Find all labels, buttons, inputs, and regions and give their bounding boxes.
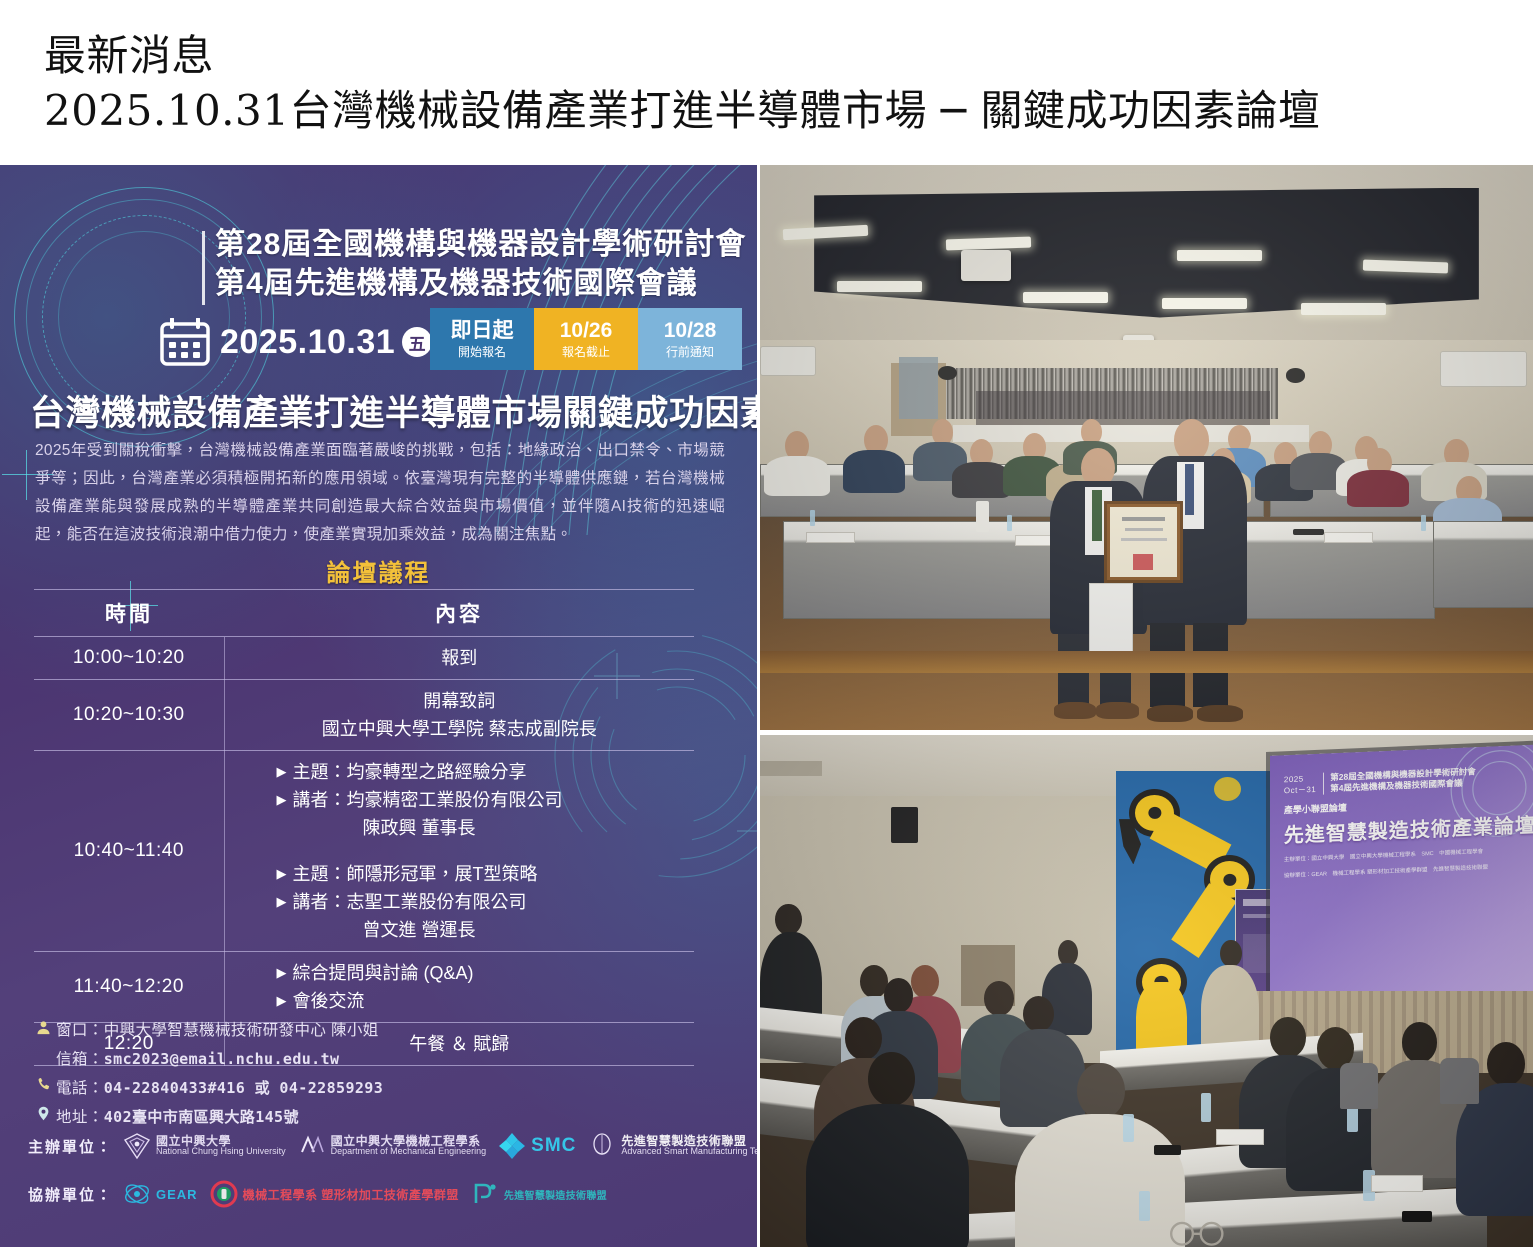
certificate-seal xyxy=(1133,554,1153,571)
cohost-row: 協辦單位： GEAR xyxy=(28,1178,748,1210)
person-icon xyxy=(30,1017,56,1045)
cohost-logos: GEAR 機械工程學系 塑形材加工技術產學群盟 xyxy=(123,1178,748,1210)
presenter-left-shoe xyxy=(1054,702,1097,719)
agenda-content: 報到 xyxy=(224,637,694,680)
ceiling-light xyxy=(837,281,922,292)
agenda-col-time: 時間 xyxy=(34,590,224,637)
smartphone xyxy=(1154,1145,1181,1155)
agenda-line-text: 講者：志聖工業股份有限公司 xyxy=(293,892,527,912)
agenda-time: 11:40~12:20 xyxy=(34,952,224,1023)
agenda-time: 10:00~10:20 xyxy=(34,637,224,680)
contact-person-row: 窗口：中興大學智慧機械技術研發中心 陳小姐 xyxy=(30,1017,670,1045)
table-row: 10:00~10:20 報到 xyxy=(34,637,694,680)
speaker xyxy=(938,366,957,380)
host-name-4: 先進智慧製造技術聯盟 xyxy=(621,1136,757,1146)
phone-value: 04-22840433#416 或 04-22859293 xyxy=(104,1079,383,1097)
agenda-speaker: 陳政興 董事長 xyxy=(277,814,691,842)
agenda-line: 開幕致詞 xyxy=(229,687,691,715)
front-desk-far-right xyxy=(1433,521,1533,608)
mural-logo xyxy=(1214,777,1241,801)
table-row: 11:40~12:20 ▶綜合提問與討論 (Q&A) ▶會後交流 xyxy=(34,952,694,1023)
agenda-line: ▶綜合提問與討論 (Q&A) xyxy=(277,959,691,987)
cohost-name-3: 先進智慧製造技術聯盟 xyxy=(504,1187,607,1202)
red-ring-icon: 機械工程學系 塑形材加工技術產學群盟 xyxy=(210,1178,459,1210)
foreground-attendee-head xyxy=(868,1052,914,1106)
host-logos: 國立中興大學National Chung Hsing University 國立… xyxy=(123,1130,757,1162)
certificate-line xyxy=(1125,528,1163,531)
event-poster: 第28屆全國機構與機器設計學術研討會 第4屆先進機構及機器技術國際會議 2025… xyxy=(0,165,757,1247)
asmt-mark-shape xyxy=(588,1132,616,1160)
projection-screen: 2025 Oct－31 第28屆全國機構與機器設計學術研討會 第4屆先進機構及機… xyxy=(1270,745,1533,1023)
agenda-time: 10:40~11:40 xyxy=(34,751,224,952)
screen-title: 先進智慧製造技術產業論壇 xyxy=(1284,809,1533,849)
poster-headline: 台灣機械設備產業打進半導體市場關鍵成功因素 xyxy=(30,385,730,436)
cohost-name-1: GEAR xyxy=(156,1187,198,1202)
agenda-line-text: 綜合提問與討論 (Q&A) xyxy=(293,963,474,983)
badge-registration-deadline: 10/26 報名截止 xyxy=(534,308,638,370)
wall-speaker xyxy=(891,807,918,843)
presenter-right-shoe xyxy=(1147,705,1193,722)
screen-content: 2025 Oct－31 第28屆全國機構與機器設計學術研討會 第4屆先進機構及機… xyxy=(1270,745,1533,1023)
bullet-triangle-icon: ▶ xyxy=(277,764,287,779)
door-glass xyxy=(899,357,938,419)
agenda-line-text: 講者：均豪精密工業股份有限公司 xyxy=(293,790,563,810)
sponsors-section: 主辦單位： 國立中興大學National Chung Hsing Univers… xyxy=(28,1130,748,1226)
table-row: 10:40~11:40 ▶主題：均豪轉型之路經驗分享 ▶講者：均豪精密工業股份有… xyxy=(34,751,694,952)
screen-date-block: 2025 Oct－31 xyxy=(1284,774,1316,797)
host-label: 主辦單位： xyxy=(28,1136,113,1157)
badge-subtitle: 開始報名 xyxy=(458,344,506,360)
classroom-scene xyxy=(760,165,1533,730)
host-en-1: National Chung Hsing University xyxy=(156,1146,286,1156)
presenter-left-shoe xyxy=(1096,702,1139,719)
certificate-plaque xyxy=(1104,501,1183,583)
attendee-body xyxy=(1000,1029,1085,1126)
back-desk xyxy=(953,425,1309,442)
forum-scene: 2025 Oct－31 第28屆全國機構與機器設計學術研討會 第4屆先進機構及機… xyxy=(760,735,1533,1247)
name-plate xyxy=(1324,532,1372,543)
content-area: 第28屆全國機構與機器設計學術研討會 第4屆先進機構及機器技術國際會議 2025… xyxy=(0,165,1533,1247)
agenda-line: ▶會後交流 xyxy=(277,987,691,1015)
red-ring-shape xyxy=(210,1180,238,1208)
title-accent-bar xyxy=(202,231,205,305)
contact-window: 窗口：中興大學智慧機械技術研發中心 陳小姐 xyxy=(56,1017,670,1045)
host-name-2: 國立中興大學機械工程學系 xyxy=(331,1136,487,1146)
attendee-head xyxy=(1487,1042,1526,1086)
smartphone xyxy=(1402,1211,1433,1222)
ceiling-dark-panel xyxy=(814,188,1479,318)
badge-registration-open: 即日起 開始報名 xyxy=(430,308,534,370)
agenda-line: ▶主題：均豪轉型之路經驗分享 xyxy=(277,758,691,786)
attendee-head xyxy=(775,904,801,935)
attendee-head xyxy=(1023,996,1054,1032)
event-day-of-week: 五 xyxy=(402,327,432,357)
ceiling-light xyxy=(1301,303,1386,314)
certificate-line xyxy=(1122,517,1165,521)
screen-org-line-2: 協辦單位：GEAR 機械工程學系 塑形材加工技術產學群盟 先進智慧製造技術聯盟 xyxy=(1284,862,1533,881)
calendar-icon xyxy=(160,318,210,366)
ceiling-projector xyxy=(961,250,1011,281)
bullet-triangle-icon: ▶ xyxy=(277,965,287,980)
water-bottle xyxy=(1007,515,1012,531)
news-title: 2025.10.31台灣機械設備產業打進半導體市場 ─ 關鍵成功因素論壇 xyxy=(44,82,1533,140)
badge-title: 10/28 xyxy=(664,319,717,343)
presenter-right-tie xyxy=(1185,464,1194,515)
ceiling-light xyxy=(1177,250,1262,261)
badge-subtitle: 行前通知 xyxy=(666,344,714,360)
agenda-line: ▶講者：志聖工業股份有限公司 xyxy=(277,888,691,916)
conference-title-line-1: 第28屆全國機構與機器設計學術研討會 xyxy=(215,225,745,264)
bullet-triangle-icon: ▶ xyxy=(277,894,287,909)
attendee-body xyxy=(952,462,1010,499)
event-date-strip: 2025.10.31 五 xyxy=(160,313,432,371)
chair xyxy=(1440,1058,1479,1104)
cohost-name-2: 機械工程學系 塑形材加工技術產學群盟 xyxy=(243,1186,459,1203)
agenda-line-text: 主題：師隱形冠軍，展T型策略 xyxy=(293,864,538,884)
email-value: smc2023@email.nchu.edu.tw xyxy=(104,1050,340,1068)
thermos xyxy=(976,501,988,532)
speaker xyxy=(1286,368,1305,382)
stage-step xyxy=(760,651,1533,674)
back-audience-row xyxy=(976,391,1270,425)
name-plate xyxy=(1216,1129,1264,1144)
agenda-table: 時間 內容 10:00~10:20 報到 10:20~10:30 開幕致詞 國立… xyxy=(34,589,694,1066)
screen-date: Oct－31 xyxy=(1284,785,1316,797)
badge-title: 即日起 xyxy=(451,319,514,343)
bullet-triangle-icon: ▶ xyxy=(277,993,287,1008)
agenda-line: ▶講者：均豪精密工業股份有限公司 xyxy=(277,786,691,814)
agenda-heading: 論壇議程 xyxy=(0,553,757,588)
news-label: 最新消息 xyxy=(44,30,1533,82)
air-conditioner xyxy=(760,346,816,376)
email-label: 信箱： xyxy=(56,1051,104,1068)
host-en-4: Advanced Smart Manufacturing Technology … xyxy=(621,1146,757,1156)
agenda-time: 10:20~10:30 xyxy=(34,680,224,751)
conference-title-line-2: 第4屆先進機構及機器技術國際會議 xyxy=(215,264,745,303)
bullet-triangle-icon: ▶ xyxy=(277,866,287,881)
host-name-1: 國立中興大學 xyxy=(156,1136,286,1146)
smc-mark-shape xyxy=(498,1132,526,1160)
ceiling-pipe xyxy=(760,761,822,776)
contact-email-row: 信箱：smc2023@email.nchu.edu.tw xyxy=(30,1045,670,1074)
teal-mark-icon: 先進智慧製造技術聯盟 xyxy=(471,1178,607,1210)
contact-address-row: 地址：402臺中市南區興大路145號 xyxy=(30,1103,670,1132)
badge-pre-event-notice: 10/28 行前通知 xyxy=(638,308,742,370)
attendee-head xyxy=(1270,1017,1306,1058)
presenter-left-tie xyxy=(1092,490,1101,541)
foreground-attendee-head xyxy=(1077,1063,1125,1119)
agenda-col-content: 內容 xyxy=(224,590,694,637)
decorative-crosshair-icon xyxy=(26,450,27,500)
location-pin-icon xyxy=(30,1103,56,1131)
agenda-line: ▶主題：師隱形冠軍，展T型策略 xyxy=(277,860,691,888)
gear-logo-icon: GEAR xyxy=(123,1178,198,1210)
water-bottle xyxy=(1421,515,1426,531)
phone-label: 電話： xyxy=(56,1080,104,1097)
air-conditioner xyxy=(1440,351,1527,387)
agenda-session-block: ▶主題：均豪轉型之路經驗分享 ▶講者：均豪精密工業股份有限公司 陳政興 董事長 xyxy=(277,758,691,851)
host-name-3: SMC xyxy=(531,1135,576,1157)
phone-icon xyxy=(30,1074,56,1102)
nchu-crest-shape xyxy=(123,1132,151,1160)
badge-subtitle: 報名截止 xyxy=(562,344,610,360)
bullet-triangle-icon: ▶ xyxy=(277,792,287,807)
attendee-body xyxy=(764,456,830,496)
smc-logo-icon: SMC xyxy=(498,1130,576,1162)
contact-info: 窗口：中興大學智慧機械技術研發中心 陳小姐 信箱：smc2023@email.n… xyxy=(30,1017,670,1132)
agenda-line: 國立中興大學工學院 蔡志成副院長 xyxy=(229,715,691,743)
eyeglasses-icon xyxy=(1162,1221,1232,1247)
ceiling-light xyxy=(1162,298,1247,309)
water-bottle xyxy=(1139,1191,1151,1222)
teal-mark-shape xyxy=(471,1180,499,1208)
conference-title-block: 第28屆全國機構與機器設計學術研討會 第4屆先進機構及機器技術國際會議 xyxy=(215,225,745,303)
water-bottle xyxy=(810,510,815,526)
forum-session-photo: 2025 Oct－31 第28屆全國機構與機器設計學術研討會 第4屆先進機構及機… xyxy=(760,735,1533,1247)
agenda-line-text: 會後交流 xyxy=(293,991,365,1011)
chair xyxy=(1340,1063,1379,1109)
address-value: 402臺中市南區興大路145號 xyxy=(104,1108,299,1126)
agenda-speaker: 曾文進 營運長 xyxy=(277,916,691,944)
poster-description: 2025年受到關稅衝擊，台灣機械設備產業面臨著嚴峻的挑戰，包括：地緣政治、出口禁… xyxy=(35,437,725,549)
foreground-attendee-body xyxy=(806,1104,968,1247)
contact-phone-row: 電話：04-22840433#416 或 04-22859293 xyxy=(30,1074,670,1103)
presenter-head xyxy=(1220,940,1242,968)
attendee-head xyxy=(845,1017,882,1060)
asmt-logo-icon: 先進智慧製造技術聯盟Advanced Smart Manufacturing T… xyxy=(588,1130,757,1162)
gear-mark-shape xyxy=(123,1180,151,1208)
event-date: 2025.10.31 xyxy=(220,323,395,362)
name-plate xyxy=(1371,1175,1423,1191)
address-label: 地址： xyxy=(56,1109,104,1126)
microphone xyxy=(1293,529,1324,535)
dept-mark-icon: 國立中興大學機械工程學系Department of Mechanical Eng… xyxy=(298,1130,487,1162)
agenda-content: 開幕致詞 國立中興大學工學院 蔡志成副院長 xyxy=(224,680,694,751)
name-plate xyxy=(806,532,854,543)
host-en-2: Department of Mechanical Engineering xyxy=(331,1146,487,1156)
dept-mark-shape xyxy=(298,1132,326,1160)
cohost-label: 協辦單位： xyxy=(28,1184,113,1205)
agenda-session-block: ▶主題：師隱形冠軍，展T型策略 ▶講者：志聖工業股份有限公司 曾文進 營運長 xyxy=(277,851,691,944)
attendee-head xyxy=(984,981,1013,1016)
agenda-content: ▶主題：均豪轉型之路經驗分享 ▶講者：均豪精密工業股份有限公司 陳政興 董事長 … xyxy=(224,751,694,952)
attendee-body xyxy=(843,450,905,492)
presenter-right-shoe xyxy=(1197,705,1243,722)
attendee-body xyxy=(1347,470,1409,507)
certificate-line xyxy=(1121,538,1167,541)
screen-org-line-1: 主辦單位：國立中興大學 國立中興大學機械工程學系 SMC 中國機械工程學會 xyxy=(1284,846,1533,865)
table-row: 10:20~10:30 開幕致詞 國立中興大學工學院 蔡志成副院長 xyxy=(34,680,694,751)
foreground-attendee-body xyxy=(1015,1114,1185,1247)
badge-title: 10/26 xyxy=(560,319,613,343)
attendee-head xyxy=(884,978,913,1013)
attendee-head xyxy=(911,965,939,998)
water-bottle xyxy=(1201,1093,1212,1121)
water-bottle xyxy=(1123,1114,1134,1142)
certificate-paper xyxy=(1110,507,1177,577)
nchu-crest-icon: 國立中興大學National Chung Hsing University xyxy=(123,1130,286,1162)
ceiling-light xyxy=(1023,292,1108,303)
attendee-head xyxy=(1402,1022,1438,1063)
registration-badges: 即日起 開始報名 10/26 報名截止 10/28 行前通知 xyxy=(430,308,742,370)
agenda-header-row: 時間 內容 xyxy=(34,590,694,637)
award-ceremony-classroom-photo xyxy=(760,165,1533,730)
news-header: 最新消息 2025.10.31台灣機械設備產業打進半導體市場 ─ 關鍵成功因素論… xyxy=(0,0,1533,165)
host-row: 主辦單位： 國立中興大學National Chung Hsing Univers… xyxy=(28,1130,748,1162)
agenda-content: ▶綜合提問與討論 (Q&A) ▶會後交流 xyxy=(224,952,694,1023)
agenda-line-text: 主題：均豪轉型之路經驗分享 xyxy=(293,762,527,782)
